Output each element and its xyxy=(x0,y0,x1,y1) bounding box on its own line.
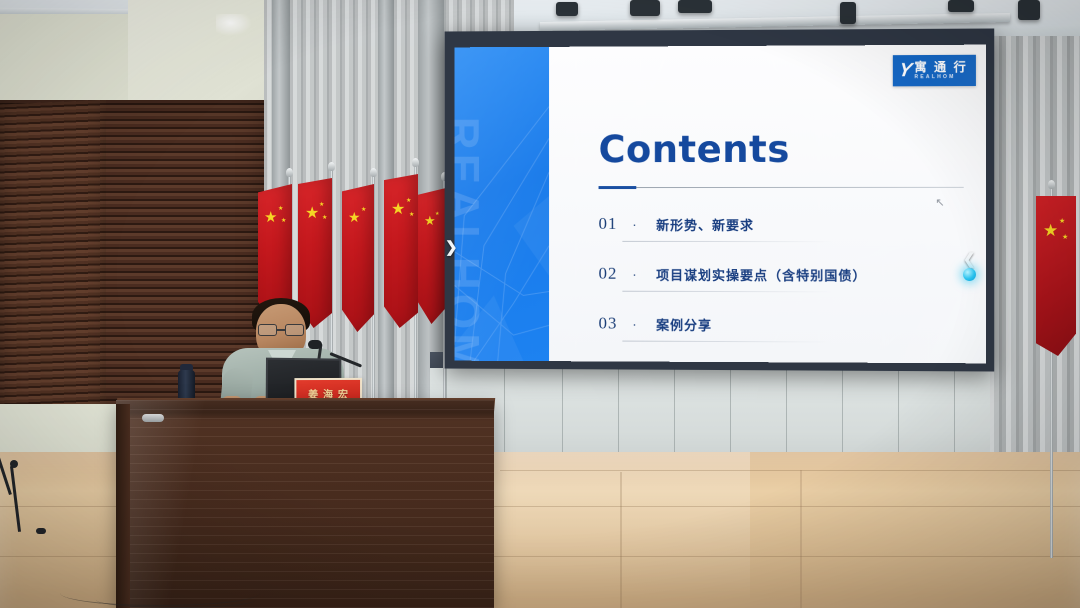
floor-cable-2 xyxy=(96,592,256,608)
toc-label: 项目谋划实操要点（含特别国债） xyxy=(656,265,866,285)
brand-logo-text: 寓 通 行 REALHOM xyxy=(914,61,967,80)
stage-back-wall xyxy=(430,368,990,458)
toc-number: 03 xyxy=(599,314,618,334)
wall-glass-glint xyxy=(216,14,252,36)
toc-item: 01 · 新形势、新要求 xyxy=(599,211,972,261)
toc-number: 02 xyxy=(599,264,618,284)
toc-label: 案例分享 xyxy=(656,315,712,334)
slide-body: Y 寓 通 行 REALHOM Contents 01 · 新形势、新要求 xyxy=(549,45,986,364)
toc-item: 02 · 项目谋划实操要点（含特别国债） xyxy=(599,261,972,312)
toc-separator: · xyxy=(632,317,636,332)
toc-divider xyxy=(622,291,832,293)
presentation-slide: REALHOM Y 寓 通 行 REALHOM Contents xyxy=(454,45,986,364)
slide-title: Contents xyxy=(599,128,790,171)
flag-finial xyxy=(370,168,377,177)
mic-stand-tripod xyxy=(0,438,60,534)
ceiling-spotlight-4 xyxy=(840,2,856,24)
toc-divider xyxy=(622,241,832,242)
podium xyxy=(116,400,494,608)
ceiling-spotlight-5 xyxy=(948,0,974,12)
wood-slat-wall-return xyxy=(0,100,106,414)
china-flag: ★ ★ xyxy=(342,184,374,332)
toc-item: 03 · 案例分享 xyxy=(599,311,972,363)
toc-number: 01 xyxy=(599,214,618,234)
ceiling-spotlight-6 xyxy=(1018,0,1040,20)
brand-logo-mark: Y xyxy=(897,61,911,80)
title-underline-rest xyxy=(636,187,963,188)
brand-logo: Y 寓 通 行 REALHOM xyxy=(892,55,975,87)
ceiling-spotlight-2 xyxy=(630,0,660,16)
tripod-foot xyxy=(36,528,46,534)
floor-seam-1 xyxy=(500,470,1080,471)
floor-seam-4 xyxy=(620,472,622,608)
conference-hall-photo: ★ ★ ★ ★ ★ ★ ★ ★ ★ ★ ★ ★ ★ xyxy=(0,0,1080,608)
microphone-head xyxy=(308,340,322,349)
toc-separator: · xyxy=(632,217,636,232)
flag-finial xyxy=(286,168,293,177)
podium-left-face xyxy=(116,404,130,608)
ceiling-spotlight-1 xyxy=(556,2,578,16)
china-flag: ★ ★ ★ xyxy=(384,174,418,328)
tripod-leg xyxy=(10,466,21,532)
china-flag: ★ ★ xyxy=(418,188,446,324)
ceiling-spotlight-3 xyxy=(678,0,712,13)
projection-screen[interactable]: REALHOM Y 寓 通 行 REALHOM Contents xyxy=(454,45,986,364)
eyeglasses-icon xyxy=(258,324,304,336)
flag-finial xyxy=(412,158,419,167)
brand-name-cn: 寓 通 行 xyxy=(914,61,967,73)
tripod-hinge xyxy=(10,460,18,468)
toc-separator: · xyxy=(632,267,636,282)
slide-next-chevron-icon[interactable]: ❯ xyxy=(445,238,458,256)
mouse-cursor-icon: ↖ xyxy=(935,196,943,208)
table-of-contents: 01 · 新形势、新要求 02 · 项目谋划实操要点（含特别国债） 03 · xyxy=(599,211,972,362)
podium-badge xyxy=(142,414,164,422)
slide-accent-panel: REALHOM xyxy=(454,47,549,361)
flag-finial xyxy=(328,162,335,171)
flag-finial xyxy=(1048,180,1055,189)
title-underline-accent xyxy=(599,186,637,189)
floor-seam-5 xyxy=(800,470,802,608)
slide-prev-chevron-icon[interactable]: ❮ xyxy=(963,250,976,268)
toc-divider xyxy=(622,341,832,343)
laser-pointer-dot xyxy=(963,268,976,281)
title-underline xyxy=(599,186,964,189)
toc-label: 新形势、新要求 xyxy=(656,215,754,234)
china-flag: ★ ★ ★ xyxy=(1036,196,1076,356)
slide-watermark: REALHOM xyxy=(454,117,489,362)
brand-name-en: REALHOM xyxy=(914,75,967,80)
